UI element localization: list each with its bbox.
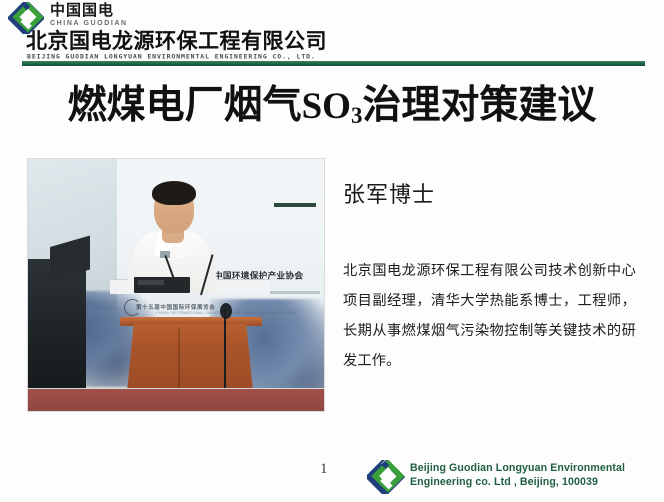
speaker-name: 张军博士 bbox=[343, 182, 435, 210]
company-name-en: BEIJING GUODIAN LONGYUAN ENVIRONMENTAL E… bbox=[27, 53, 316, 60]
slide-title-part1: 燃煤电厂烟气 bbox=[68, 83, 302, 128]
photo-laptop-keyboard bbox=[138, 280, 164, 285]
chem-subscript: 3 bbox=[351, 103, 362, 128]
footer-guodian-diamond-logo-icon bbox=[367, 460, 405, 494]
slide-title: 燃煤电厂烟气SO3治理对策建议 bbox=[0, 82, 664, 135]
slide-footer: 1 Beijing Guodian Longyuan Environmental… bbox=[0, 454, 664, 502]
photo-speaker-hair bbox=[152, 181, 196, 205]
chem-base: SO bbox=[302, 86, 351, 127]
brand-en-small: CHINA GUODIAN bbox=[50, 19, 128, 28]
speaker-photo: 中国环境保护产业协会 第十五届中国国际环保展览会 CHINA INTERNATI… bbox=[28, 159, 324, 411]
photo-floor-mic-head bbox=[220, 303, 232, 319]
slide-title-part2: 治理对策建议 bbox=[362, 83, 596, 128]
footer-line-2: Engineering co. Ltd , Beijing, 100039 bbox=[410, 476, 625, 490]
company-name-cn: 北京国电龙源环保工程有限公司 bbox=[26, 30, 327, 53]
footer-company-text: Beijing Guodian Longyuan Environmental E… bbox=[410, 462, 625, 489]
photo-banner-stripe bbox=[274, 203, 316, 207]
brand-cn-small: 中国国电 bbox=[50, 3, 114, 19]
slide-title-chemical: SO3 bbox=[302, 86, 363, 127]
photo-dark-panel bbox=[28, 259, 86, 409]
speaker-bio: 北京国电龙源环保工程有限公司技术创新中心项目副经理，清华大学热能系博士，工程师，… bbox=[343, 256, 636, 376]
header-divider bbox=[22, 61, 645, 66]
photo-red-carpet bbox=[28, 389, 324, 411]
photo-expo-title: 第十五届中国国际环保展览会 bbox=[136, 303, 215, 311]
page-number: 1 bbox=[320, 461, 328, 478]
slide-header: 中国国电 CHINA GUODIAN 北京国电龙源环保工程有限公司 BEIJIN… bbox=[0, 0, 664, 68]
footer-line-1: Beijing Guodian Longyuan Environmental bbox=[410, 462, 625, 474]
